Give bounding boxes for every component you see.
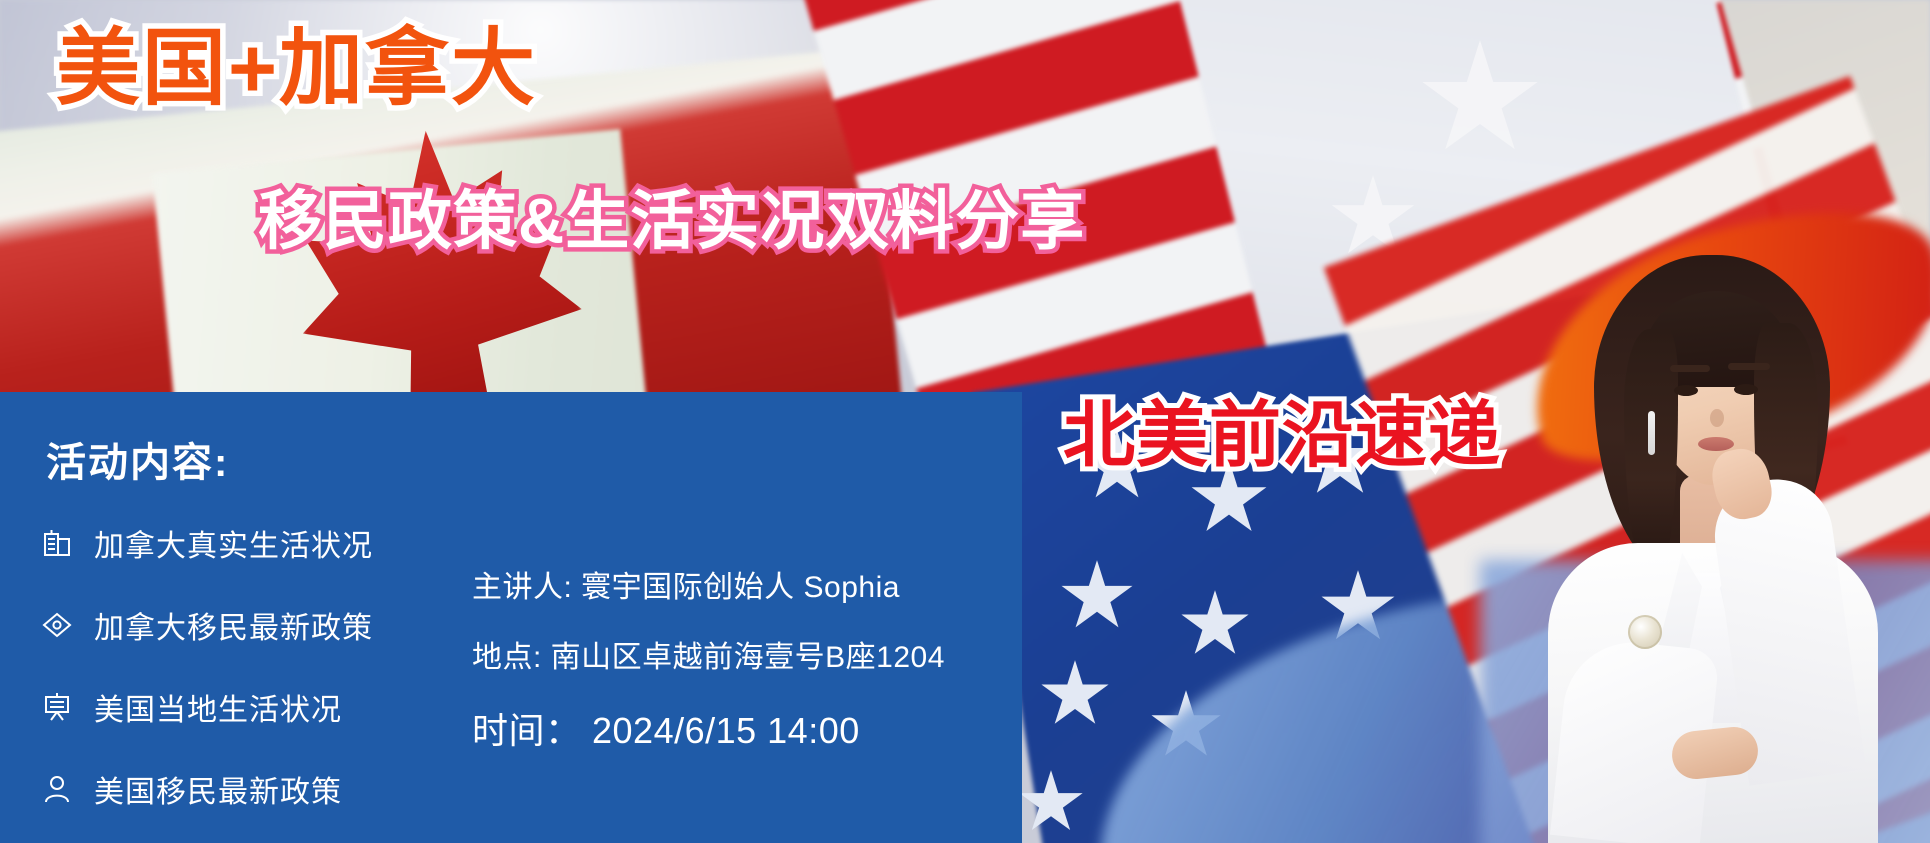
portrait-nose: [1710, 409, 1724, 427]
diamond-icon: [36, 604, 78, 646]
portrait-flower-brooch: [1628, 615, 1662, 649]
subtitle: 移民政策&生活实况双料分享: [258, 186, 1085, 256]
portrait-lips: [1698, 437, 1734, 451]
main-title: 美国+加拿大: [56, 26, 537, 110]
location-line: 地点: 南山区卓越前海壹号B座1204: [472, 632, 945, 676]
list-item: 美国当地生活状况: [36, 674, 466, 740]
person-icon: [36, 768, 78, 810]
list-item-label: 加拿大真实生活状况: [94, 521, 373, 565]
presentation-board-icon: [36, 686, 78, 728]
event-details: 主讲人: 寰宇国际创始人 Sophia 地点: 南山区卓越前海壹号B座1204 …: [472, 562, 945, 780]
speaker-portrait: [1532, 243, 1892, 843]
portrait-eyebrow-right: [1728, 363, 1770, 370]
portrait-earring: [1648, 411, 1655, 455]
list-item: 加拿大移民最新政策: [36, 592, 466, 658]
portrait-eye-right: [1734, 384, 1758, 395]
panel-heading: 活动内容:: [46, 430, 229, 488]
list-item-label: 加拿大移民最新政策: [94, 603, 373, 647]
list-item-label: 美国当地生活状况: [94, 685, 342, 729]
promo-banner: 美国+加拿大 移民政策&生活实况双料分享 北美前沿速递 活动内容: 加拿大真实生…: [0, 0, 1930, 843]
list-item: 加拿大真实生活状况: [36, 510, 466, 576]
agenda-list: 加拿大真实生活状况 加拿大移民最新政策: [36, 510, 466, 838]
list-item: 美国移民最新政策: [36, 756, 466, 822]
info-panel: 活动内容: 加拿大真实生活状况: [0, 392, 1022, 843]
list-item-label: 美国移民最新政策: [94, 767, 342, 811]
speaker-line: 主讲人: 寰宇国际创始人 Sophia: [472, 562, 945, 606]
portrait-eyebrow-left: [1670, 365, 1710, 372]
badge-headline: 北美前沿速递: [1063, 400, 1501, 472]
time-line: 时间： 2024/6/15 14:00: [472, 702, 945, 754]
portrait-eye-left: [1674, 385, 1698, 396]
building-icon: [36, 522, 78, 564]
